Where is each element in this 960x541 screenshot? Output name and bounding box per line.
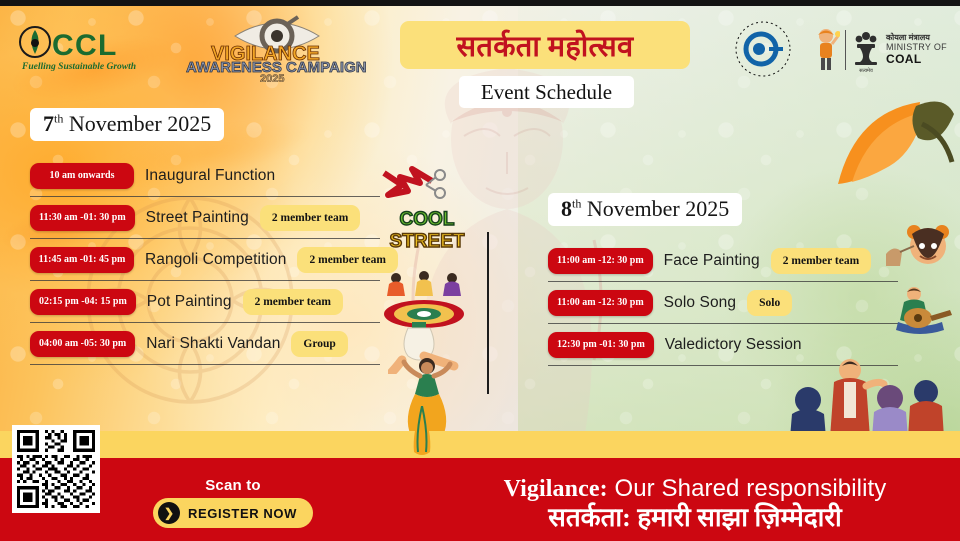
row-separator	[30, 322, 380, 323]
date-badge-day2: 8th November 2025	[548, 193, 742, 226]
event-name: Solo Song	[664, 294, 736, 312]
slogan-english-rest: Our Shared responsibility	[608, 475, 887, 502]
schedule-row[interactable]: 11:30 am -01: 30 pm Street Painting 2 me…	[30, 197, 380, 238]
event-time-badge: 11:45 am -01: 45 pm	[30, 247, 134, 273]
slogan-english-bold: Vigilance:	[504, 476, 608, 502]
row-separator	[30, 280, 380, 281]
svg-text:C: C	[52, 29, 74, 62]
central-vigilance-commission-logo	[731, 20, 795, 78]
qr-code-image	[17, 430, 95, 508]
vigilance-awareness-campaign-logo: VIGILANCE AWARENESS CAMPAIGN 2025	[180, 10, 375, 82]
row-separator	[548, 281, 898, 282]
schedule-row[interactable]: 11:00 am -12: 30 pm Face Painting 2 memb…	[548, 240, 898, 281]
date-badge-day1: 7th November 2025	[30, 108, 224, 141]
event-time-badge: 11:00 am -12: 30 pm	[548, 248, 653, 274]
event-name: Face Painting	[664, 252, 760, 270]
event-team-tag: Solo	[747, 290, 792, 316]
logo-divider	[845, 30, 846, 70]
date-badge-day2-text: 8th November 2025	[561, 196, 729, 221]
slogan-english: Vigilance: Our Shared responsibility	[440, 475, 950, 504]
ribbon-cutting-icon	[382, 165, 454, 205]
row-separator	[548, 323, 898, 324]
register-now-label: REGISTER NOW	[188, 506, 297, 521]
schedule-row[interactable]: 04:00 am -05: 30 pm Nari Shakti Vandan G…	[30, 323, 380, 364]
top-black-bar	[0, 0, 960, 6]
event-team-tag: Group	[291, 331, 347, 357]
svg-text:C: C	[75, 29, 97, 62]
group-discussion-illustration	[790, 352, 960, 438]
schedule-day-1: 7th November 2025 10 am onwards Inaugura…	[30, 108, 380, 365]
row-separator	[30, 364, 380, 365]
column-divider	[487, 232, 489, 394]
ministry-text-block: कोयला मंत्रालय MINISTRY OF COAL	[886, 34, 947, 65]
svg-text:COOL: COOL	[400, 209, 455, 230]
event-name: Rangoli Competition	[145, 251, 286, 269]
orange-flower-illustration	[830, 66, 960, 196]
event-team-tag: 2 member team	[260, 205, 360, 231]
event-schedule-poster: C C L Fuelling Sustainable Growth VIGILA…	[0, 0, 960, 541]
event-team-tag: 2 member team	[243, 289, 343, 315]
date-badge-day1-text: 7th November 2025	[43, 111, 211, 136]
cool-street-logo: COOL STREET	[384, 203, 470, 253]
poster-title-hindi: सतर्कता महोत्सव	[400, 21, 690, 69]
scan-to-label: Scan to	[118, 477, 348, 494]
event-time-badge: 04:00 am -05: 30 pm	[30, 331, 135, 357]
register-now-button[interactable]: ❯ REGISTER NOW	[153, 498, 313, 528]
poster-subtitle-text: Event Schedule	[481, 80, 612, 105]
qr-code[interactable]	[12, 425, 100, 513]
row-separator	[30, 238, 380, 239]
event-name: Inaugural Function	[145, 167, 275, 185]
guitar-player-illustration	[884, 284, 956, 336]
schedule-rows-day2: 11:00 am -12: 30 pm Face Painting 2 memb…	[548, 240, 898, 366]
event-team-tag: 2 member team	[771, 248, 871, 274]
event-name: Pot Painting	[147, 293, 232, 311]
schedule-day-2: 8th November 2025 11:00 am -12: 30 pm Fa…	[548, 193, 898, 366]
face-painting-illustration	[884, 222, 956, 274]
poster-title-hindi-text: सतर्कता महोत्सव	[457, 26, 634, 65]
svg-text:STREET: STREET	[390, 231, 465, 252]
schedule-row[interactable]: 02:15 pm -04: 15 pm Pot Painting 2 membe…	[30, 281, 380, 322]
svg-text:Fuelling Sustainable Growth: Fuelling Sustainable Growth	[21, 62, 136, 72]
ministry-name-line2: COAL	[886, 53, 947, 66]
event-time-badge: 11:30 am -01: 30 pm	[30, 205, 135, 231]
event-time-badge: 02:15 pm -04: 15 pm	[30, 289, 136, 315]
footer-slogan: Vigilance: Our Shared responsibility सतर…	[440, 475, 950, 533]
svg-text:L: L	[98, 29, 116, 62]
schedule-row[interactable]: 10 am onwards Inaugural Function	[30, 155, 380, 196]
row-separator	[30, 196, 380, 197]
footer-yellow-band	[0, 431, 960, 458]
hanging-drape-decoration	[400, 406, 444, 458]
schedule-row[interactable]: 11:45 am -01: 45 pm Rangoli Competition …	[30, 239, 380, 280]
event-name: Street Painting	[146, 209, 249, 227]
svg-text:2025: 2025	[260, 73, 284, 82]
event-name: Nari Shakti Vandan	[146, 335, 280, 353]
event-time-badge: 11:00 am -12: 30 pm	[548, 290, 653, 316]
arrow-right-icon: ❯	[158, 502, 180, 524]
scan-to-register-block: Scan to ❯ REGISTER NOW	[118, 477, 348, 528]
schedule-row[interactable]: 11:00 am -12: 30 pm Solo Song Solo	[548, 282, 898, 323]
event-time-badge: 12:30 pm -01: 30 pm	[548, 332, 654, 358]
slogan-hindi: सतर्कता: हमारी साझा ज़िम्मेदारी	[440, 503, 950, 533]
event-name: Valedictory Session	[665, 336, 802, 354]
ccl-logo: C C L Fuelling Sustainable Growth	[18, 22, 168, 74]
schedule-rows-day1: 10 am onwards Inaugural Function 11:30 a…	[30, 155, 380, 365]
poster-subtitle: Event Schedule	[459, 76, 634, 108]
event-time-badge: 10 am onwards	[30, 163, 134, 189]
